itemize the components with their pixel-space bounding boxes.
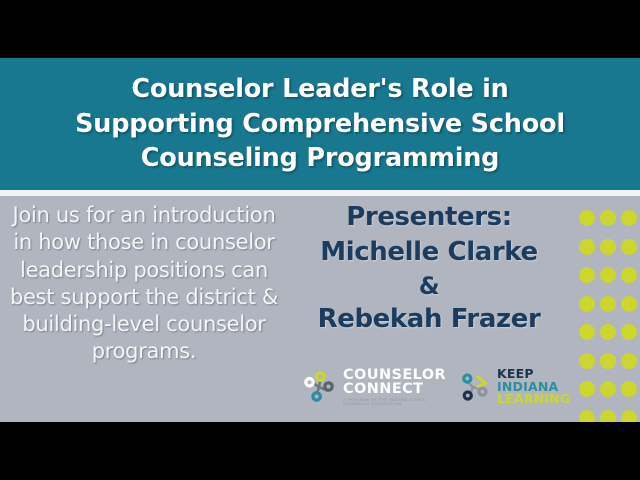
presenters-conjunction: & (419, 270, 440, 302)
decorative-dot (600, 353, 616, 369)
decorative-dot (600, 410, 616, 422)
logo-tagline: A PROGRAM OF THE INDIANA SCHOOL COUNSELO… (343, 399, 446, 406)
letterbox-bar-top (0, 0, 640, 58)
decorative-dot (621, 381, 637, 397)
title-banner: Counselor Leader's Role in Supporting Co… (0, 58, 640, 190)
decorative-dot (600, 210, 616, 226)
decorative-dot (600, 239, 616, 255)
letterbox-bar-bottom (0, 422, 640, 480)
decorative-dot (600, 381, 616, 397)
logo-counselor-connect-wordmark: COUNSELOR CONNECT A PROGRAM OF THE INDIA… (343, 368, 446, 406)
session-description-text: Join us for an introduction in how those… (3, 202, 285, 366)
decorative-dot (600, 267, 616, 283)
logo-text-counselor: COUNSELOR (343, 368, 446, 383)
decorative-dot (600, 324, 616, 340)
presenters-heading: Presenters: (346, 200, 512, 235)
decorative-dot (579, 267, 595, 283)
dot-grid-decoration (568, 196, 640, 422)
logo-text-connect: CONNECT (343, 382, 446, 397)
decorative-dot (621, 324, 637, 340)
decorative-dot (579, 410, 595, 422)
decorative-dot (600, 296, 616, 312)
presenter-name-first: Michelle Clarke (320, 235, 537, 270)
logo-counselor-connect: COUNSELOR CONNECT A PROGRAM OF THE INDIA… (300, 368, 446, 406)
session-description-block: Join us for an introduction in how those… (0, 196, 288, 422)
pinwheel-icon (454, 368, 492, 406)
decorative-dot (621, 239, 637, 255)
decorative-dot (621, 410, 637, 422)
decorative-dot (579, 324, 595, 340)
decorative-dot (621, 353, 637, 369)
decorative-dot (579, 210, 595, 226)
presenter-name-second: Rebekah Frazer (318, 302, 541, 337)
video-slide-frame: Counselor Leader's Role in Supporting Co… (0, 0, 640, 480)
logo-keep-indiana-learning-wordmark: KEEP INDIANA LEARNING (497, 368, 570, 406)
decorative-dot (579, 381, 595, 397)
decorative-dot (579, 353, 595, 369)
decorative-dot (621, 267, 637, 283)
decorative-dot (579, 296, 595, 312)
logo-row: COUNSELOR CONNECT A PROGRAM OF THE INDIA… (300, 364, 565, 410)
logo-keep-indiana-learning: KEEP INDIANA LEARNING (454, 368, 570, 406)
decorative-dot (621, 296, 637, 312)
decorative-dot (621, 210, 637, 226)
logo-text-learning: LEARNING (497, 393, 570, 406)
slide-title: Counselor Leader's Role in Supporting Co… (30, 72, 610, 176)
decorative-dot (579, 239, 595, 255)
pinwheel-icon (300, 368, 338, 406)
